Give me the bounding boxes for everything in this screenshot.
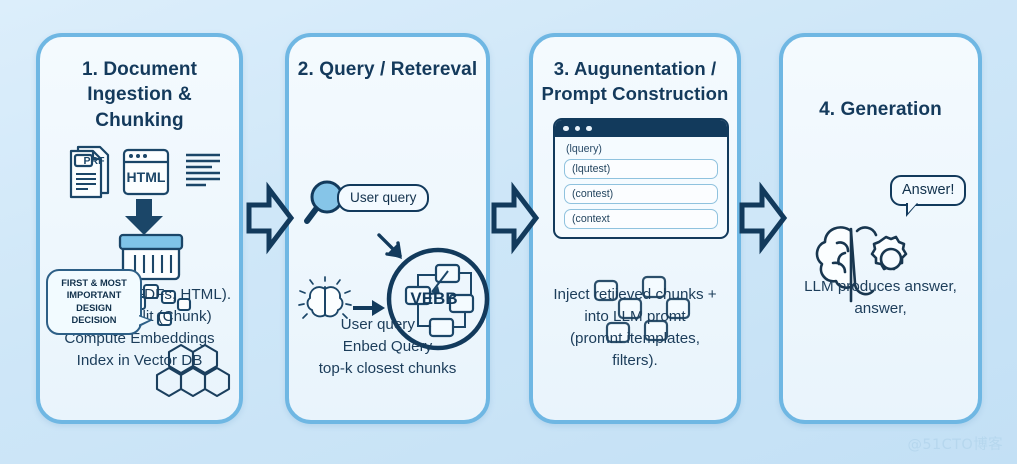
panel-4-body: LLM produces answer, answer, xyxy=(781,276,980,320)
panel-1-title: 1. Document Ingestion & Chunking xyxy=(40,57,239,133)
window-dot-red-icon xyxy=(563,126,569,132)
panel-4-body-line-1: LLM produces answer, xyxy=(781,276,980,298)
source-documents-icon-row: PRF HTML xyxy=(40,141,247,199)
design-decision-callout: FIRST & MOST IMPORTANT DESIGN DECISION xyxy=(46,269,142,335)
panel-3-body-line-2: into LLM promt xyxy=(531,306,739,328)
flow-arrow-2-to-3 xyxy=(492,185,538,251)
callout-line-4: DECISION xyxy=(52,314,136,326)
embedding-label: VEBB xyxy=(410,289,457,308)
speech-bubble-icon: Answer! xyxy=(890,175,966,206)
flow-arrow-3-to-4 xyxy=(740,185,786,251)
panel-3-body-line-1: Inject retiieved chunks + xyxy=(531,284,739,306)
bubble-tail-inner xyxy=(908,203,917,213)
panel-2-body-line-2: Enbed Query xyxy=(287,336,488,358)
pdf-label: PRF xyxy=(84,155,106,167)
panel-3-body-line-3: (promnt itemplates, xyxy=(531,328,739,350)
prompt-field-3[interactable]: (context xyxy=(564,209,718,229)
callout-line-2: IMPORTANT xyxy=(52,289,136,301)
window-dot-green-icon xyxy=(586,126,592,132)
panel-2-body-line-1: User query → xyxy=(287,314,488,336)
user-query-label: User query xyxy=(350,190,416,205)
panel-query-retrieval: 2. Query / Retereval User query xyxy=(285,33,490,424)
prompt-field-2[interactable]: (contest) xyxy=(564,184,718,204)
user-query-pill: User query xyxy=(337,184,429,212)
watermark: @51CTO博客 xyxy=(907,433,1003,454)
panel-2-body-line-3: top-k closest chunks xyxy=(287,358,488,380)
panel-3-body: Inject retiieved chunks + into LLM promt… xyxy=(531,284,739,372)
prompt-window-titlebar xyxy=(555,120,727,137)
panel-2-body: User query → Enbed Query top-k closest c… xyxy=(287,314,488,380)
html-label: HTML xyxy=(127,169,166,185)
prompt-window: (lquery) (lqutest) (contest) (context xyxy=(553,118,729,239)
window-dot-yellow-icon xyxy=(575,126,581,132)
answer-label: Answer! xyxy=(902,182,954,198)
panel-3-body-line-4: filters). xyxy=(531,350,739,372)
prompt-window-rows: (lquery) (lqutest) (contest) (context xyxy=(555,137,727,237)
panel-4-body-line-2: answer, xyxy=(781,298,980,320)
panel-4-title: 4. Generation xyxy=(783,97,978,122)
callout-tail-inner xyxy=(138,316,149,325)
panel-augmentation-prompt-construction: 3. Augunentation / Prompt Construction (… xyxy=(529,33,741,424)
flow-arrow-1-to-2 xyxy=(247,185,293,251)
panel-generation: 4. Generation Answer! LLM produces answe… xyxy=(779,33,982,424)
callout-line-1: FIRST & MOST xyxy=(52,277,136,289)
hexagon-vector-db-icon xyxy=(159,342,231,406)
diagram-canvas: 1. Document Ingestion & Chunking xyxy=(0,0,1017,464)
panel-3-title: 3. Augunentation / Prompt Construction xyxy=(524,57,746,106)
prompt-field-1[interactable]: (lqutest) xyxy=(564,159,718,179)
panel-2-title: 2. Query / Retereval xyxy=(289,57,486,82)
down-arrow-icon xyxy=(122,199,166,237)
panel-document-ingestion: 1. Document Ingestion & Chunking xyxy=(36,33,243,424)
callout-line-3: DESIGN xyxy=(52,302,136,314)
prompt-plain-row: (lquery) xyxy=(564,142,718,159)
